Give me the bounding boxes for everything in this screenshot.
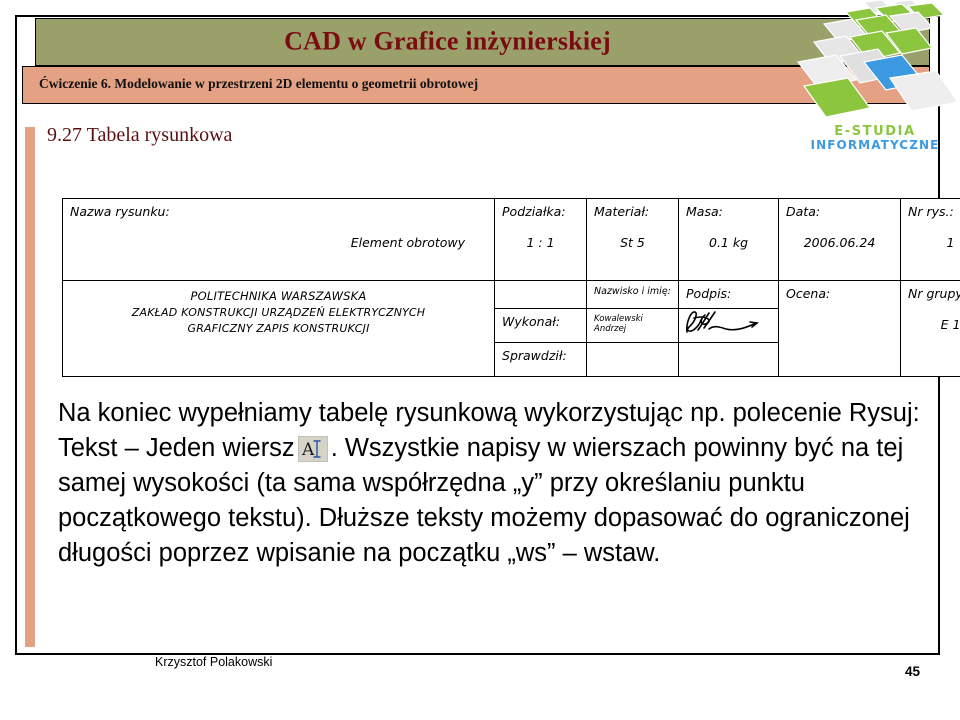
label-made-by: Wykonał: xyxy=(502,314,560,329)
value-drawing-number: 1 xyxy=(908,235,960,250)
cell-checked-by-label: Sprawdził: xyxy=(495,343,587,377)
label-surname: Nazwisko i imię: xyxy=(594,286,671,297)
subtitle-band: Ćwiczenie 6. Modelowanie w przestrzeni 2… xyxy=(22,66,930,104)
value-group: E 1 xyxy=(908,317,960,332)
estudia-logo-wordmark: E-STUDIA INFORMATYCZNE xyxy=(795,125,955,152)
label-signature: Podpis: xyxy=(686,286,731,301)
cell-grade: Ocena: xyxy=(779,281,901,377)
logo-line-estudia: E-STUDIA xyxy=(795,125,955,139)
cell-checked-by-signature xyxy=(679,343,779,377)
single-line-text-icon: A xyxy=(298,436,328,462)
table-row-org-header: POLITECHNIKA WARSZAWSKA ZAKŁAD KONSTRUKC… xyxy=(63,281,960,309)
page-title: CAD w Grafice inżynierskiej xyxy=(36,26,929,56)
left-accent-bar xyxy=(25,127,35,647)
cad-title-block-table: Nazwa rysunku: Element obrotowy Podziałk… xyxy=(62,198,960,377)
exercise-subtitle: Ćwiczenie 6. Modelowanie w przestrzeni 2… xyxy=(39,76,478,92)
cell-date: Data: 2006.06.24 xyxy=(779,199,901,281)
label-material: Materiał: xyxy=(594,204,671,219)
value-scale: 1 : 1 xyxy=(502,235,579,250)
svg-text:A: A xyxy=(301,440,315,460)
page-number: 45 xyxy=(905,664,920,679)
handwritten-signature-icon xyxy=(679,309,778,335)
table-row-drawing-info: Nazwa rysunku: Element obrotowy Podziałk… xyxy=(63,199,960,281)
value-made-by: Kowalewski Andrzej xyxy=(594,314,643,334)
label-checked-by: Sprawdził: xyxy=(502,348,567,363)
cell-checked-by-name xyxy=(587,343,679,377)
label-group: Nr grupy: xyxy=(908,286,960,301)
title-band: CAD w Grafice inżynierskiej xyxy=(35,18,930,66)
org-line-1: POLITECHNIKA WARSZAWSKA xyxy=(67,288,490,305)
value-drawing-name: Element obrotowy xyxy=(70,235,487,250)
cell-signature-label: Podpis: xyxy=(679,281,779,309)
cell-material: Materiał: St 5 xyxy=(587,199,679,281)
cell-organisation: POLITECHNIKA WARSZAWSKA ZAKŁAD KONSTRUKC… xyxy=(63,281,495,377)
body-paragraph: Na koniec wypełniamy tabelę rysunkową wy… xyxy=(58,396,930,571)
org-line-2: ZAKŁAD KONSTRUKCJI URZĄDZEŃ ELEKTRYCZNYC… xyxy=(67,305,490,321)
section-heading: 9.27 Tabela rysunkowa xyxy=(47,124,232,147)
label-date: Data: xyxy=(786,204,893,219)
cell-made-by-name: Kowalewski Andrzej xyxy=(587,309,679,343)
label-drawing-number: Nr rys.: xyxy=(908,204,960,219)
cell-group: Nr grupy: E 1 xyxy=(901,281,960,377)
logo-line-informatyczne: INFORMATYCZNE xyxy=(795,139,955,152)
cell-role-header-empty xyxy=(495,281,587,309)
value-mass: 0.1 kg xyxy=(686,235,771,250)
cell-made-by-label: Wykonał: xyxy=(495,309,587,343)
label-mass: Masa: xyxy=(686,204,771,219)
cell-made-by-signature xyxy=(679,309,779,343)
cell-mass: Masa: 0.1 kg xyxy=(679,199,779,281)
org-line-3: GRAFICZNY ZAPIS KONSTRUKCJI xyxy=(67,321,490,337)
label-drawing-name: Nazwa rysunku: xyxy=(70,204,487,219)
value-date: 2006.06.24 xyxy=(786,235,893,250)
cell-surname-label: Nazwisko i imię: xyxy=(587,281,679,309)
cell-drawing-number: Nr rys.: 1 xyxy=(901,199,960,281)
value-material: St 5 xyxy=(594,235,671,250)
cell-scale: Podziałka: 1 : 1 xyxy=(495,199,587,281)
cell-drawing-name: Nazwa rysunku: Element obrotowy xyxy=(63,199,495,281)
footer-author: Krzysztof Polakowski xyxy=(155,655,272,669)
label-scale: Podziałka: xyxy=(502,204,579,219)
label-grade: Ocena: xyxy=(786,286,893,301)
